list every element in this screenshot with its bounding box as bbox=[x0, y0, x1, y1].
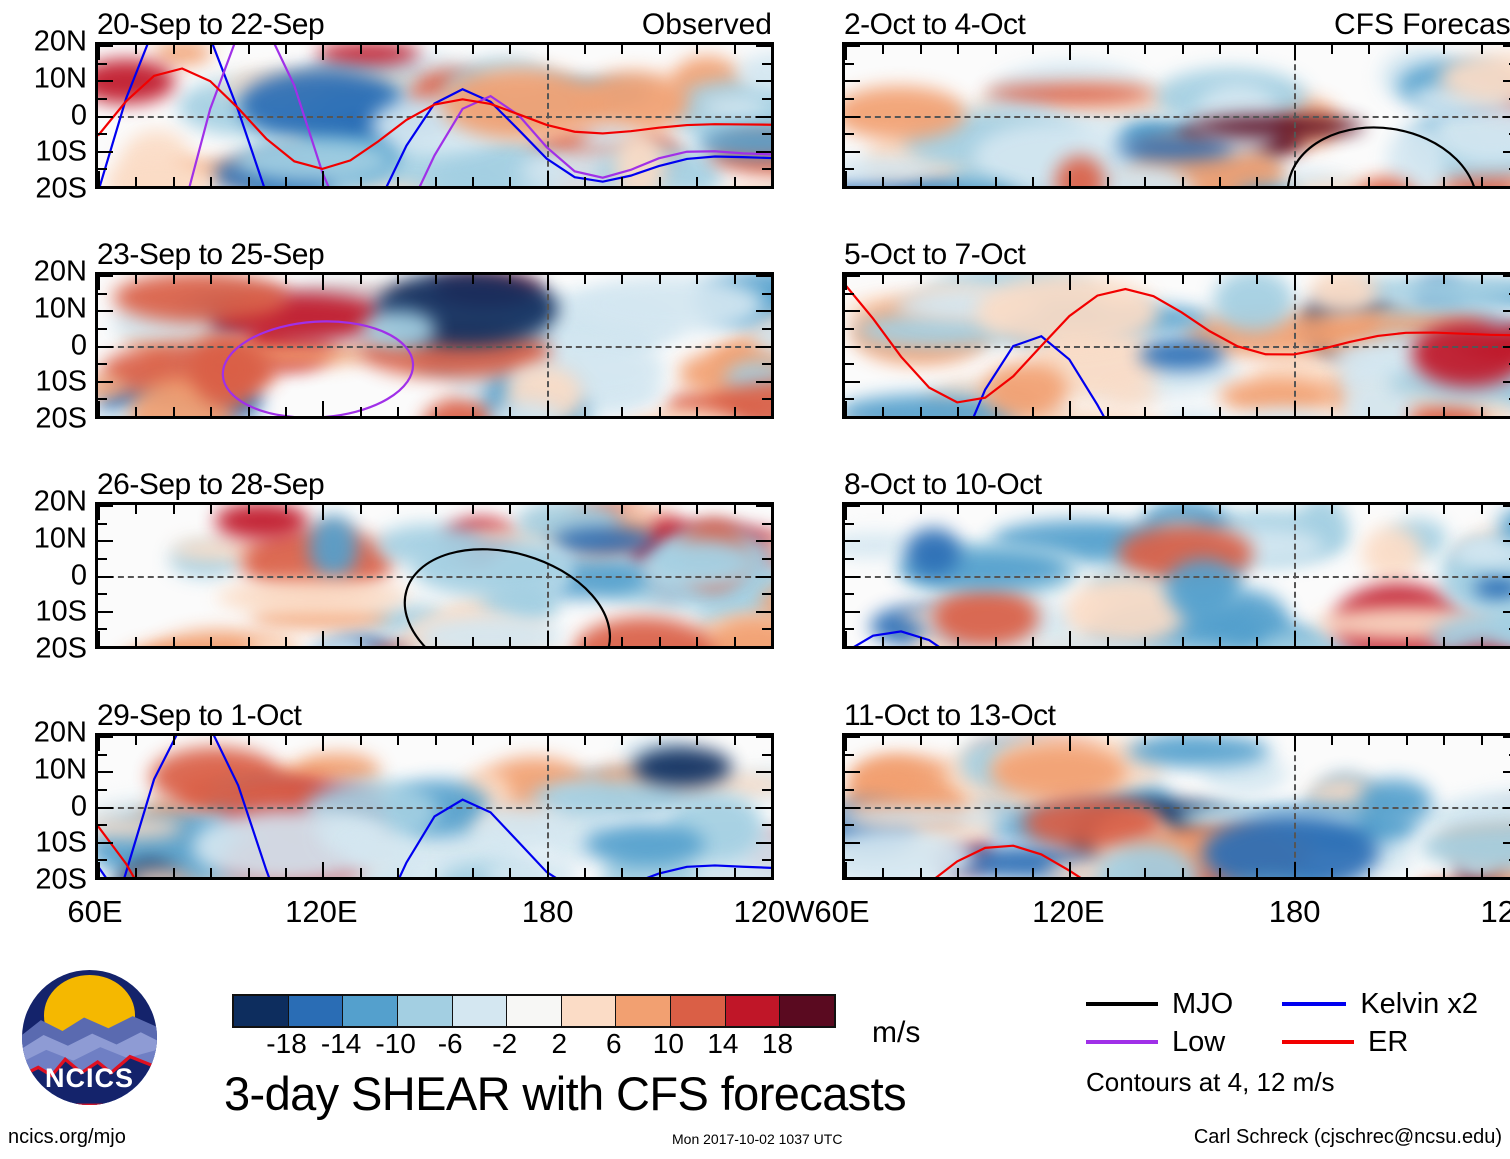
x-tick-minor bbox=[248, 736, 250, 745]
x-tick-minor bbox=[285, 275, 287, 284]
x-tick-minor bbox=[1182, 275, 1184, 284]
y-tick bbox=[756, 505, 771, 507]
y-tick-minor bbox=[98, 363, 107, 365]
y-tick-minor bbox=[762, 523, 771, 525]
panel-title-p7: 29-Sep to 1-Oct bbox=[97, 699, 301, 733]
x-tick-minor bbox=[957, 275, 959, 284]
x-tick-minor bbox=[397, 177, 399, 186]
y-tick bbox=[98, 310, 113, 312]
x-tick-minor bbox=[1032, 275, 1034, 284]
x-tick bbox=[771, 45, 773, 60]
x-tick bbox=[1069, 505, 1071, 520]
y-tick-minor bbox=[762, 754, 771, 756]
y-tick-minor bbox=[845, 558, 854, 560]
panel-title-p2: 2-Oct to 4-Oct bbox=[844, 8, 1025, 42]
x-tick bbox=[771, 171, 773, 186]
x-tick-minor bbox=[1443, 736, 1445, 745]
x-tick-minor bbox=[882, 505, 884, 514]
x-tick-minor bbox=[1481, 45, 1483, 54]
x-tick-minor bbox=[1219, 505, 1221, 514]
y-tick-label-10S: 10S bbox=[35, 368, 87, 397]
y-tick bbox=[98, 877, 113, 879]
shading-blob bbox=[772, 279, 774, 356]
legend-swatch-mjo bbox=[1086, 1002, 1158, 1006]
colorbar: -18-14-10-6-226101418 bbox=[232, 994, 836, 1062]
x-tick-minor bbox=[1406, 868, 1408, 877]
y-tick-minor bbox=[845, 789, 854, 791]
legend-label-er: ER bbox=[1368, 1026, 1408, 1059]
x-tick-minor bbox=[1481, 407, 1483, 416]
y-tick-minor bbox=[762, 133, 771, 135]
x-tick-minor bbox=[1107, 45, 1109, 54]
contour-kelvin bbox=[845, 336, 1510, 419]
x-tick-minor bbox=[135, 868, 137, 877]
y-tick bbox=[98, 80, 113, 82]
map-area-p1 bbox=[95, 42, 774, 189]
x-tick-minor bbox=[509, 275, 511, 284]
y-tick-label-10N: 10N bbox=[34, 755, 87, 784]
y-tick bbox=[98, 540, 113, 542]
x-tick-minor bbox=[734, 407, 736, 416]
x-tick-minor bbox=[1406, 637, 1408, 646]
x-tick-minor bbox=[135, 177, 137, 186]
x-tick-minor bbox=[1032, 637, 1034, 646]
x-tick-minor bbox=[472, 637, 474, 646]
x-tick bbox=[322, 505, 324, 520]
x-tick-minor bbox=[472, 177, 474, 186]
x-tick-minor bbox=[360, 505, 362, 514]
x-tick-minor bbox=[621, 275, 623, 284]
x-tick bbox=[771, 505, 773, 520]
x-tick-label-180-col1: 180 bbox=[522, 894, 574, 930]
x-tick-label-120W-col2: 120W bbox=[1481, 894, 1510, 930]
map-area-p3 bbox=[95, 272, 774, 419]
ncics-logo: NCICS bbox=[22, 970, 157, 1105]
x-tick-minor bbox=[1182, 736, 1184, 745]
x-tick-minor bbox=[995, 637, 997, 646]
colorbar-tick--6: -6 bbox=[438, 1028, 463, 1060]
x-tick-minor bbox=[135, 275, 137, 284]
x-tick-minor bbox=[248, 505, 250, 514]
x-tick bbox=[845, 275, 847, 290]
y-tick bbox=[756, 151, 771, 153]
x-tick-minor bbox=[509, 177, 511, 186]
y-tick bbox=[845, 646, 860, 648]
y-tick-minor bbox=[762, 293, 771, 295]
y-tick-label-10N: 10N bbox=[34, 294, 87, 323]
y-tick bbox=[756, 310, 771, 312]
x-tick-minor bbox=[1406, 275, 1408, 284]
x-tick bbox=[845, 862, 847, 877]
contour-low bbox=[98, 45, 771, 189]
x-tick-minor bbox=[210, 275, 212, 284]
y-tick bbox=[1503, 771, 1510, 773]
y-tick-minor bbox=[98, 789, 107, 791]
x-tick-minor bbox=[1107, 407, 1109, 416]
map-area-p2 bbox=[842, 42, 1510, 189]
panel-title-p4: 5-Oct to 7-Oct bbox=[844, 238, 1025, 272]
x-tick-minor bbox=[1256, 177, 1258, 186]
panel-p8: 11-Oct to 13-Oct bbox=[842, 733, 1510, 880]
map-area-p7 bbox=[95, 733, 774, 880]
x-tick bbox=[322, 171, 324, 186]
y-tick bbox=[756, 346, 771, 348]
y-tick-minor bbox=[762, 824, 771, 826]
x-tick-minor bbox=[734, 275, 736, 284]
x-tick-minor bbox=[659, 407, 661, 416]
x-tick-minor bbox=[734, 177, 736, 186]
x-tick-minor bbox=[1443, 275, 1445, 284]
x-tick-minor bbox=[1331, 407, 1333, 416]
x-tick-minor bbox=[1443, 505, 1445, 514]
x-tick bbox=[322, 736, 324, 751]
x-tick-minor bbox=[210, 736, 212, 745]
x-tick-minor bbox=[584, 45, 586, 54]
x-tick bbox=[771, 401, 773, 416]
x-tick-minor bbox=[173, 868, 175, 877]
x-tick-minor bbox=[1144, 505, 1146, 514]
y-tick bbox=[756, 807, 771, 809]
y-tick-minor bbox=[845, 63, 854, 65]
x-tick-minor bbox=[995, 505, 997, 514]
colorbar-tick-14: 14 bbox=[707, 1028, 738, 1060]
x-tick-minor bbox=[248, 177, 250, 186]
x-tick-minor bbox=[1107, 505, 1109, 514]
x-tick-minor bbox=[285, 177, 287, 186]
x-tick-minor bbox=[397, 407, 399, 416]
footer-left[interactable]: ncics.org/mjo bbox=[8, 1126, 126, 1149]
y-tick bbox=[1503, 540, 1510, 542]
y-tick bbox=[1503, 186, 1510, 188]
y-tick bbox=[756, 611, 771, 613]
x-tick-minor bbox=[1144, 407, 1146, 416]
x-tick-minor bbox=[621, 177, 623, 186]
x-tick-minor bbox=[621, 505, 623, 514]
y-tick bbox=[1503, 646, 1510, 648]
y-tick-minor bbox=[845, 98, 854, 100]
x-tick-label-60E-col2: 60E bbox=[814, 894, 869, 930]
legend-label-kelvin: Kelvin x2 bbox=[1360, 988, 1478, 1021]
x-tick-minor bbox=[957, 637, 959, 646]
legend-item-low: Low bbox=[1086, 1026, 1282, 1059]
y-tick bbox=[1503, 807, 1510, 809]
x-tick-minor bbox=[173, 407, 175, 416]
x-tick-minor bbox=[248, 407, 250, 416]
x-tick-minor bbox=[659, 45, 661, 54]
x-tick-minor bbox=[285, 407, 287, 416]
y-tick-minor bbox=[845, 293, 854, 295]
x-tick bbox=[771, 862, 773, 877]
footer-center: Mon 2017-10-02 1037 UTC bbox=[672, 1131, 842, 1147]
x-tick-minor bbox=[360, 45, 362, 54]
x-tick-minor bbox=[509, 736, 511, 745]
x-tick bbox=[1294, 505, 1296, 520]
x-tick-minor bbox=[1144, 637, 1146, 646]
y-tick-label-10N: 10N bbox=[34, 524, 87, 553]
x-tick-minor bbox=[1256, 407, 1258, 416]
y-tick bbox=[1503, 611, 1510, 613]
y-tick-minor bbox=[762, 328, 771, 330]
y-tick bbox=[1503, 310, 1510, 312]
x-tick-minor bbox=[1182, 868, 1184, 877]
x-tick-minor bbox=[584, 407, 586, 416]
contour-overlay bbox=[845, 505, 1510, 649]
legend-item-kelvin: Kelvin x2 bbox=[1282, 988, 1478, 1021]
x-tick-minor bbox=[285, 505, 287, 514]
y-tick bbox=[845, 186, 860, 188]
x-tick-minor bbox=[1144, 45, 1146, 54]
x-tick-minor bbox=[1331, 868, 1333, 877]
x-tick-minor bbox=[1481, 736, 1483, 745]
x-tick bbox=[1069, 862, 1071, 877]
x-tick-minor bbox=[957, 505, 959, 514]
y-tick bbox=[845, 540, 860, 542]
colorbar-tick--14: -14 bbox=[321, 1028, 361, 1060]
x-tick-minor bbox=[920, 177, 922, 186]
colorbar-segment-6 bbox=[562, 996, 617, 1026]
y-tick bbox=[845, 310, 860, 312]
x-tick bbox=[98, 401, 100, 416]
x-tick-minor bbox=[882, 736, 884, 745]
x-tick-minor bbox=[1144, 275, 1146, 284]
x-tick-minor bbox=[1443, 637, 1445, 646]
x-tick-minor bbox=[995, 275, 997, 284]
y-tick bbox=[845, 877, 860, 879]
x-tick-minor bbox=[1406, 505, 1408, 514]
x-tick-minor bbox=[435, 505, 437, 514]
x-tick-minor bbox=[995, 177, 997, 186]
y-tick bbox=[98, 646, 113, 648]
x-tick-label-60E-col1: 60E bbox=[67, 894, 122, 930]
y-tick bbox=[756, 416, 771, 418]
colorbar-segment-3 bbox=[398, 996, 453, 1026]
x-tick-minor bbox=[659, 736, 661, 745]
contour-low bbox=[220, 316, 416, 419]
colorbar-segment-1 bbox=[289, 996, 344, 1026]
x-tick bbox=[547, 505, 549, 520]
x-tick-minor bbox=[248, 637, 250, 646]
x-tick-minor bbox=[621, 407, 623, 416]
panel-p7: 29-Sep to 1-Oct20N10N010S20S bbox=[95, 733, 774, 880]
y-tick bbox=[756, 186, 771, 188]
x-tick bbox=[547, 736, 549, 751]
x-tick-minor bbox=[173, 177, 175, 186]
x-tick-minor bbox=[1331, 637, 1333, 646]
y-tick bbox=[1503, 576, 1510, 578]
y-tick bbox=[98, 416, 113, 418]
x-tick-minor bbox=[210, 637, 212, 646]
x-tick-minor bbox=[1107, 177, 1109, 186]
y-tick-label-20N: 20N bbox=[34, 28, 87, 57]
x-tick-minor bbox=[1256, 637, 1258, 646]
y-tick bbox=[756, 576, 771, 578]
y-tick-label-20S: 20S bbox=[35, 635, 87, 664]
y-tick bbox=[98, 116, 113, 118]
x-tick-minor bbox=[135, 505, 137, 514]
contour-overlay bbox=[98, 275, 771, 419]
x-tick-minor bbox=[1144, 736, 1146, 745]
x-tick-minor bbox=[1368, 407, 1370, 416]
x-tick-minor bbox=[1406, 45, 1408, 54]
x-tick-minor bbox=[1368, 275, 1370, 284]
legend-swatch-kelvin bbox=[1282, 1002, 1346, 1006]
x-tick-minor bbox=[1219, 45, 1221, 54]
legend-swatch-er bbox=[1282, 1040, 1354, 1044]
y-tick bbox=[1503, 275, 1510, 277]
panel-title-p8: 11-Oct to 13-Oct bbox=[844, 699, 1056, 733]
colorbar-segment-5 bbox=[507, 996, 562, 1026]
x-tick-minor bbox=[957, 407, 959, 416]
x-tick-minor bbox=[397, 45, 399, 54]
x-tick-minor bbox=[734, 505, 736, 514]
y-tick-minor bbox=[762, 168, 771, 170]
x-tick-minor bbox=[1219, 275, 1221, 284]
contour-er bbox=[845, 846, 1510, 880]
x-tick-minor bbox=[1481, 637, 1483, 646]
y-tick-minor bbox=[98, 133, 107, 135]
x-tick bbox=[845, 736, 847, 751]
x-tick-label-120E-col1: 120E bbox=[285, 894, 357, 930]
x-tick-minor bbox=[173, 505, 175, 514]
x-tick-minor bbox=[920, 637, 922, 646]
x-tick-minor bbox=[1182, 637, 1184, 646]
x-tick-minor bbox=[882, 868, 884, 877]
x-tick bbox=[98, 171, 100, 186]
y-tick bbox=[98, 842, 113, 844]
y-tick bbox=[98, 771, 113, 773]
x-tick bbox=[1294, 171, 1296, 186]
y-tick bbox=[845, 576, 860, 578]
y-tick-label-20N: 20N bbox=[34, 488, 87, 517]
x-tick-minor bbox=[435, 637, 437, 646]
colorbar-tick-2: 2 bbox=[551, 1028, 567, 1060]
y-tick-minor bbox=[762, 859, 771, 861]
x-tick bbox=[322, 45, 324, 60]
x-tick bbox=[845, 631, 847, 646]
panel-p2: 2-Oct to 4-OctCFS Forecast bbox=[842, 42, 1510, 189]
x-tick-minor bbox=[1481, 275, 1483, 284]
x-tick-minor bbox=[1032, 736, 1034, 745]
x-tick bbox=[98, 862, 100, 877]
x-tick-minor bbox=[1219, 637, 1221, 646]
x-tick-minor bbox=[882, 275, 884, 284]
x-tick bbox=[322, 631, 324, 646]
x-tick-minor bbox=[1481, 868, 1483, 877]
x-tick-minor bbox=[1032, 868, 1034, 877]
y-tick bbox=[1503, 45, 1510, 47]
y-tick-minor bbox=[98, 593, 107, 595]
colorbar-tick-18: 18 bbox=[762, 1028, 793, 1060]
y-tick-label-20S: 20S bbox=[35, 175, 87, 204]
panel-p5: 26-Sep to 28-Sep20N10N010S20S bbox=[95, 502, 774, 649]
y-tick-minor bbox=[762, 63, 771, 65]
x-tick-minor bbox=[397, 736, 399, 745]
x-tick-minor bbox=[1331, 736, 1333, 745]
x-tick-minor bbox=[1107, 275, 1109, 284]
x-tick-minor bbox=[584, 505, 586, 514]
y-tick bbox=[756, 842, 771, 844]
x-tick-minor bbox=[435, 736, 437, 745]
x-tick-label-120E-col2: 120E bbox=[1032, 894, 1104, 930]
y-tick-label-10S: 10S bbox=[35, 829, 87, 858]
x-tick-minor bbox=[1219, 868, 1221, 877]
panel-title-p6: 8-Oct to 10-Oct bbox=[844, 468, 1042, 502]
x-tick-minor bbox=[882, 637, 884, 646]
x-tick-minor bbox=[397, 505, 399, 514]
x-tick-minor bbox=[135, 637, 137, 646]
x-tick-minor bbox=[472, 45, 474, 54]
colorbar-tick--2: -2 bbox=[492, 1028, 517, 1060]
x-tick bbox=[1069, 736, 1071, 751]
y-tick bbox=[756, 80, 771, 82]
legend-label-low: Low bbox=[1172, 1026, 1225, 1059]
x-tick-minor bbox=[1481, 177, 1483, 186]
x-tick-minor bbox=[248, 275, 250, 284]
colorbar-segment-9 bbox=[726, 996, 781, 1026]
x-tick-minor bbox=[621, 637, 623, 646]
y-tick bbox=[845, 275, 860, 277]
x-tick-minor bbox=[360, 868, 362, 877]
y-tick-label-20S: 20S bbox=[35, 866, 87, 895]
y-tick bbox=[756, 736, 771, 738]
x-tick bbox=[771, 736, 773, 751]
y-tick-minor bbox=[98, 523, 107, 525]
y-tick bbox=[845, 611, 860, 613]
x-tick-minor bbox=[472, 275, 474, 284]
y-tick bbox=[98, 346, 113, 348]
y-tick-minor bbox=[845, 824, 854, 826]
x-tick bbox=[1294, 631, 1296, 646]
y-tick bbox=[756, 275, 771, 277]
y-tick bbox=[1503, 346, 1510, 348]
panel-p6: 8-Oct to 10-Oct bbox=[842, 502, 1510, 649]
x-tick-minor bbox=[472, 736, 474, 745]
x-tick-minor bbox=[621, 736, 623, 745]
x-tick-minor bbox=[734, 736, 736, 745]
y-tick bbox=[845, 381, 860, 383]
map-area-p5 bbox=[95, 502, 774, 649]
y-tick-minor bbox=[845, 754, 854, 756]
y-tick-minor bbox=[98, 98, 107, 100]
x-tick-minor bbox=[1256, 868, 1258, 877]
y-tick-minor bbox=[98, 824, 107, 826]
x-tick bbox=[547, 45, 549, 60]
x-tick-minor bbox=[1331, 275, 1333, 284]
x-tick-minor bbox=[957, 736, 959, 745]
x-tick-minor bbox=[1368, 177, 1370, 186]
x-tick-minor bbox=[1107, 868, 1109, 877]
x-tick-minor bbox=[135, 736, 137, 745]
x-tick-minor bbox=[920, 275, 922, 284]
x-tick bbox=[771, 631, 773, 646]
contour-kelvin bbox=[845, 631, 1510, 649]
x-tick-minor bbox=[1368, 736, 1370, 745]
legend-swatch-low bbox=[1086, 1040, 1158, 1044]
x-tick-minor bbox=[1144, 177, 1146, 186]
x-tick-label-120W-col1: 120W bbox=[734, 894, 815, 930]
x-tick-minor bbox=[210, 505, 212, 514]
y-tick-minor bbox=[762, 398, 771, 400]
x-tick-minor bbox=[1443, 177, 1445, 186]
x-tick-minor bbox=[1368, 637, 1370, 646]
x-tick-minor bbox=[1144, 868, 1146, 877]
x-tick-minor bbox=[509, 868, 511, 877]
x-tick-minor bbox=[659, 868, 661, 877]
x-tick-minor bbox=[696, 505, 698, 514]
y-tick bbox=[98, 275, 113, 277]
x-tick-minor bbox=[248, 868, 250, 877]
x-tick-minor bbox=[1406, 736, 1408, 745]
